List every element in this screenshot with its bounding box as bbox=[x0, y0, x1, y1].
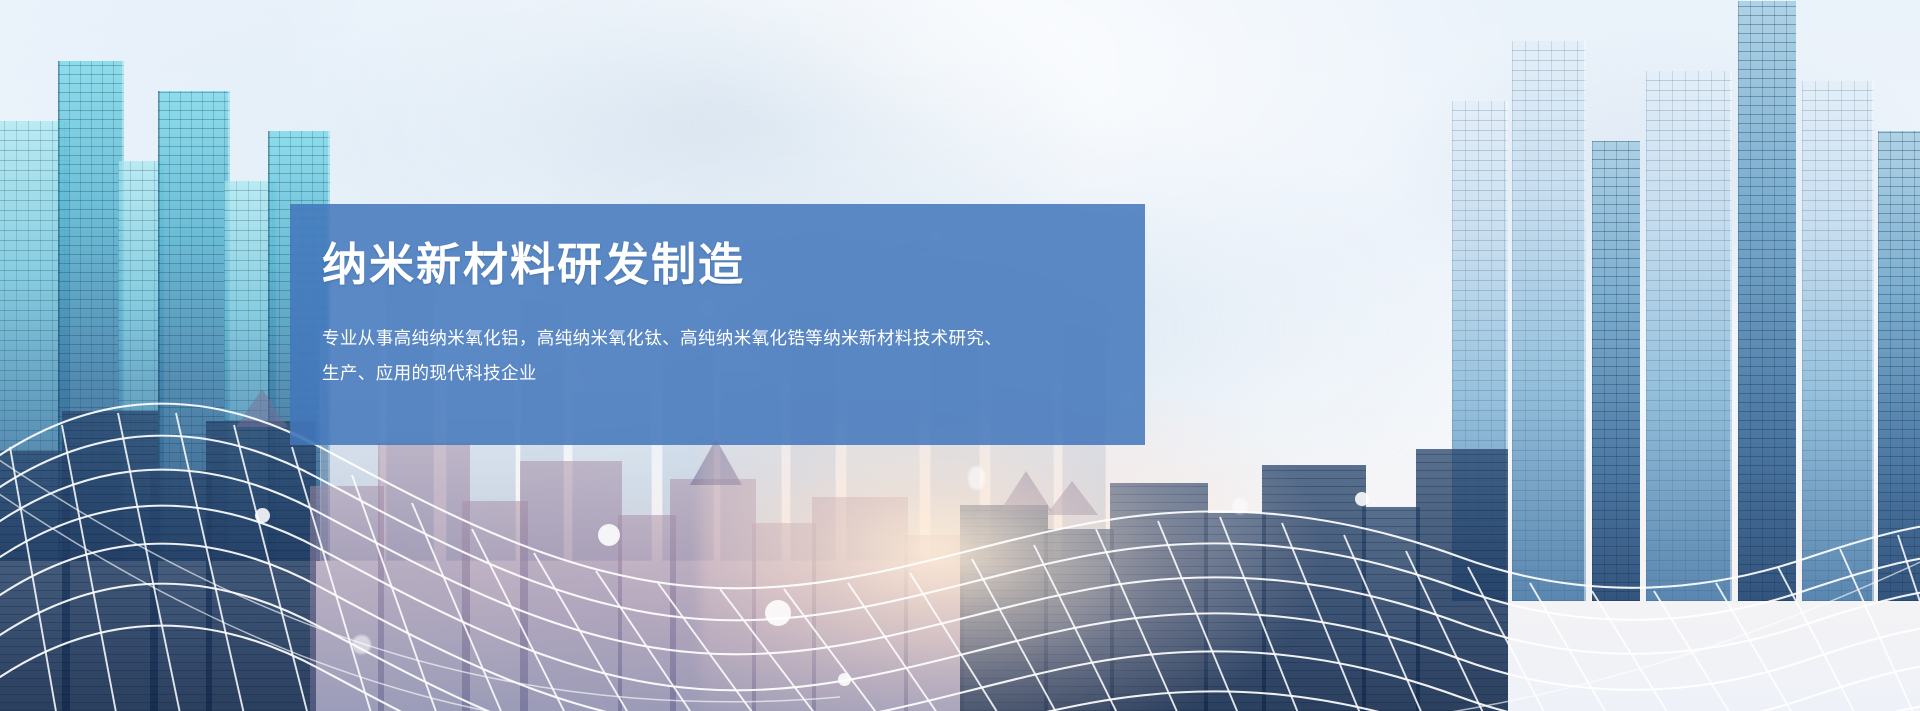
bokeh-dot-1 bbox=[255, 508, 270, 523]
bokeh-dot-2 bbox=[598, 524, 620, 546]
bokeh-dot-3 bbox=[352, 635, 371, 654]
page-title: 纳米新材料研发制造 bbox=[322, 240, 745, 290]
bokeh-dot-5 bbox=[838, 673, 851, 686]
bokeh-dot-8 bbox=[968, 466, 985, 490]
bokeh-dot-4 bbox=[765, 600, 791, 626]
hero-subtitle: 专业从事高纯纳米氧化铝，高纯纳米氧化钛、高纯纳米氧化锆等纳米新材料技术研究、 生… bbox=[322, 321, 1112, 391]
bokeh-dot-6 bbox=[1232, 498, 1248, 514]
bokeh-dot-7 bbox=[1355, 492, 1369, 506]
hero-text-panel: 纳米新材料研发制造 专业从事高纯纳米氧化铝，高纯纳米氧化钛、高纯纳米氧化锆等纳米… bbox=[290, 204, 1145, 445]
hero-text-content: 纳米新材料研发制造 专业从事高纯纳米氧化铝，高纯纳米氧化钛、高纯纳米氧化锆等纳米… bbox=[322, 204, 1112, 445]
hero-subtitle-line-2: 生产、应用的现代科技企业 bbox=[322, 356, 1112, 391]
hero-subtitle-line-1: 专业从事高纯纳米氧化铝，高纯纳米氧化钛、高纯纳米氧化锆等纳米新材料技术研究、 bbox=[322, 321, 1112, 356]
hero-banner: 纳米新材料研发制造 专业从事高纯纳米氧化铝，高纯纳米氧化钛、高纯纳米氧化锆等纳米… bbox=[0, 0, 1920, 711]
